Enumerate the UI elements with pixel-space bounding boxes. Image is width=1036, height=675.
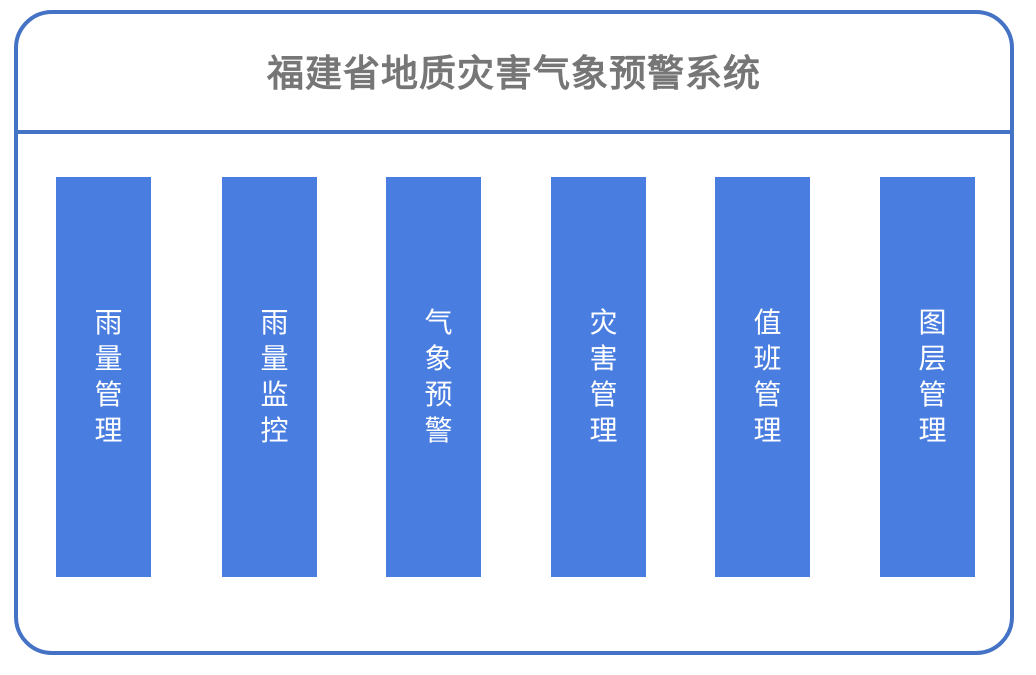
module-bar-disaster-management[interactable]: 灾害管理 — [551, 177, 646, 577]
module-bar-rainfall-management[interactable]: 雨量管理 — [56, 177, 151, 577]
module-bar-label: 雨量管理 — [95, 305, 123, 449]
module-bar-label: 气象预警 — [425, 305, 453, 449]
module-bar-duty-management[interactable]: 值班管理 — [715, 177, 810, 577]
page-title: 福建省地质灾害气象预警系统 — [267, 55, 761, 92]
module-bar-label: 图层管理 — [919, 305, 947, 449]
module-bar-label: 雨量监控 — [261, 305, 289, 449]
title-bar: 福建省地质灾害气象预警系统 — [18, 14, 1010, 134]
module-bar-layer-management[interactable]: 图层管理 — [880, 177, 975, 577]
module-bar-rainfall-monitoring[interactable]: 雨量监控 — [222, 177, 317, 577]
module-bar-label: 值班管理 — [754, 305, 782, 449]
module-bar-meteorological-warning[interactable]: 气象预警 — [386, 177, 481, 577]
application-frame: 福建省地质灾害气象预警系统 雨量管理 雨量监控 气象预警 灾害管理 值班管理 图… — [14, 10, 1014, 655]
module-bars-container: 雨量管理 雨量监控 气象预警 灾害管理 值班管理 图层管理 — [18, 138, 1010, 651]
module-bar-label: 灾害管理 — [590, 305, 618, 449]
